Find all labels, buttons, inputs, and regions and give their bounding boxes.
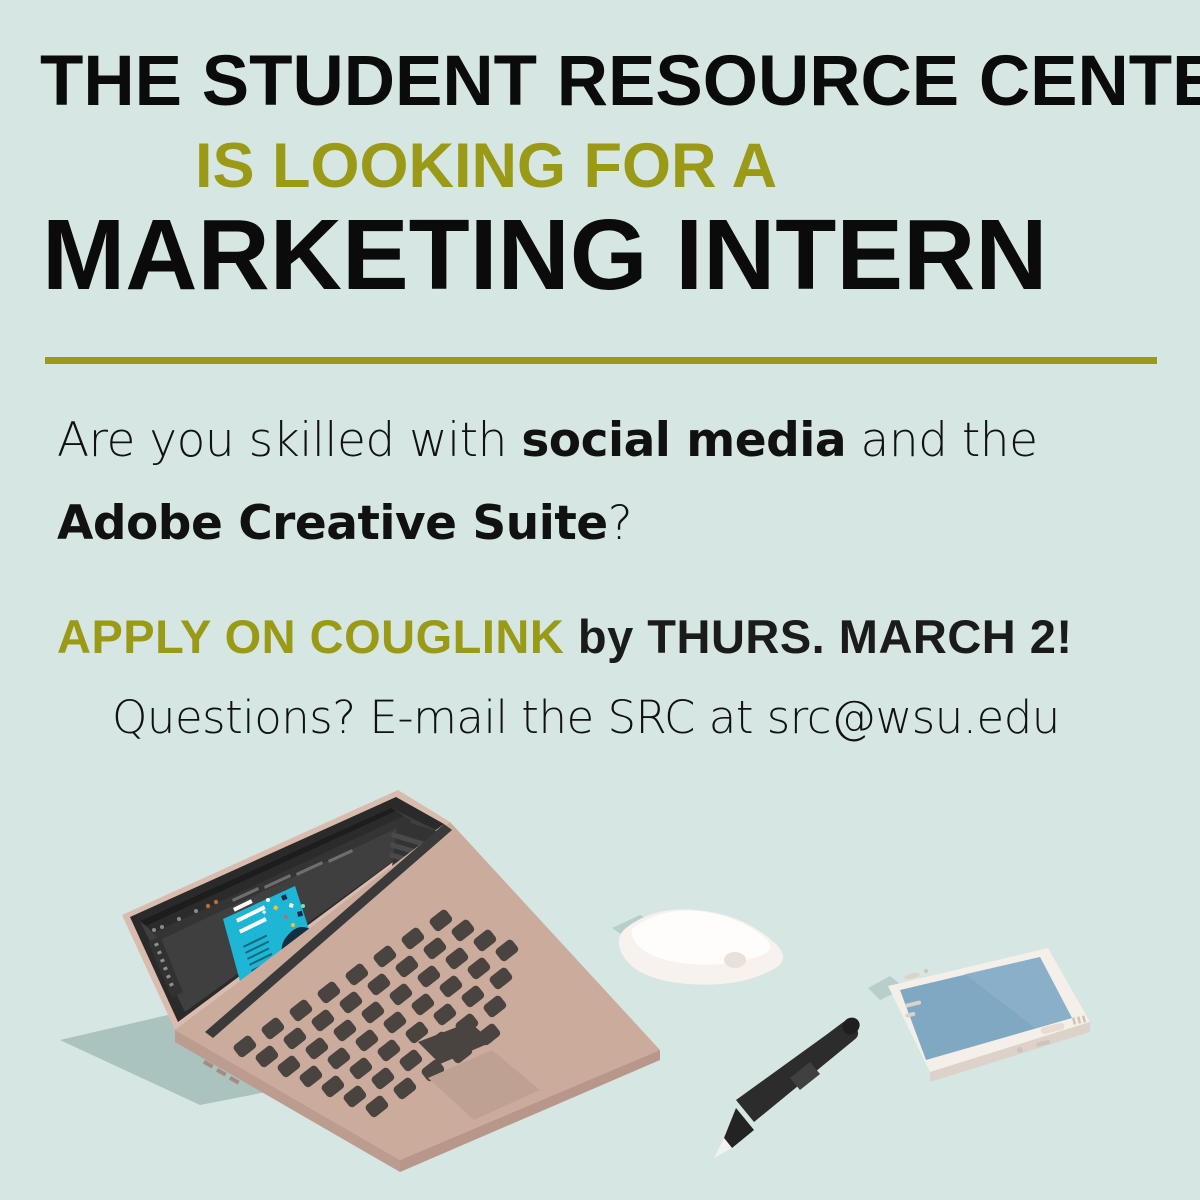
headline-line-1: THE STUDENT RESOURCE CENTER <box>40 46 1170 118</box>
headline-line-2: IS LOOKING FOR A <box>195 134 1195 198</box>
cta-line: APPLY ON COUGLINK by THURS. MARCH 2! <box>57 612 1177 662</box>
cta-by-text <box>564 610 578 663</box>
wireless-mouse <box>612 909 783 984</box>
question-mark: ? <box>608 496 632 551</box>
stylus-body <box>736 1021 858 1122</box>
body-question-line-2: Adobe Creative Suite? <box>57 498 1157 550</box>
question-mid: and the <box>846 413 1037 468</box>
desk-illustration <box>0 760 1200 1200</box>
phone-front-camera <box>924 969 928 973</box>
contact-email-line: Questions? E-mail the SRC at src@wsu.edu <box>112 693 1200 743</box>
mouse-touch-indicator <box>724 952 746 968</box>
question-bold-adobe: Adobe Creative Suite <box>57 496 608 551</box>
cta-space <box>634 610 648 663</box>
question-prefix: Are you skilled with <box>57 413 521 468</box>
smartphone <box>868 948 1090 1082</box>
poster-canvas: THE STUDENT RESOURCE CENTER IS LOOKING F… <box>0 0 1200 1200</box>
drawing-stylus <box>714 1014 863 1158</box>
body-question-line-1: Are you skilled with social media and th… <box>57 415 1157 467</box>
question-bold-social-media: social media <box>521 413 846 468</box>
phone-headphone-jack <box>1017 1047 1023 1053</box>
cta-deadline: THURS. MARCH 2! <box>647 610 1072 663</box>
cta-by-word: by <box>578 610 634 663</box>
divider-rule <box>45 357 1157 364</box>
headline-line-3: MARKETING INTERN <box>42 205 1200 305</box>
cta-apply-text: APPLY ON COUGLINK <box>57 610 564 663</box>
